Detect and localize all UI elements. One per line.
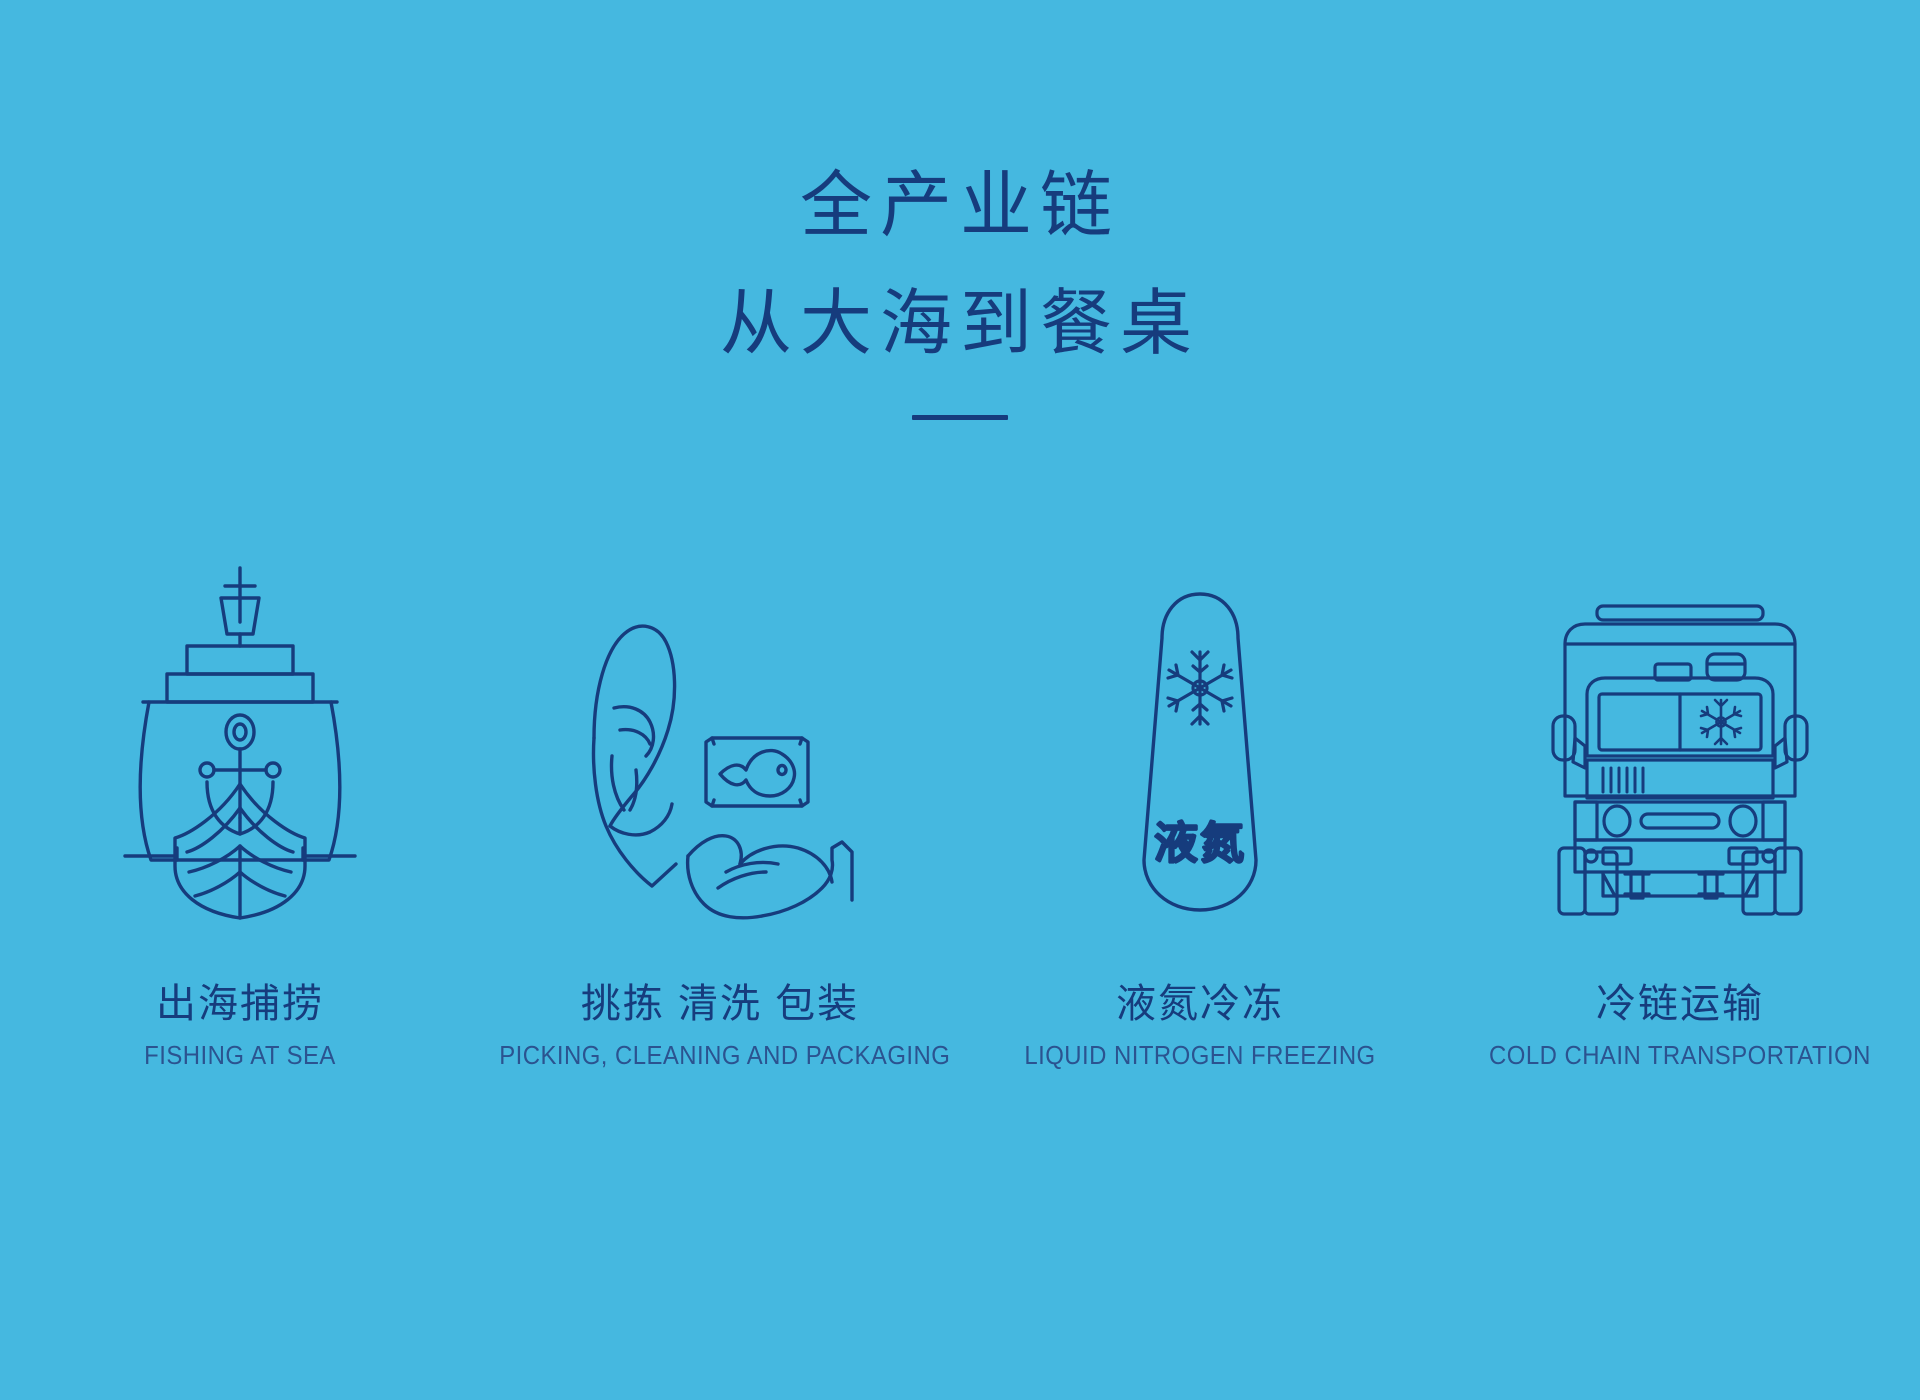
step-label-en: LIQUID NITROGEN FREEZING bbox=[979, 1040, 1421, 1071]
page-title-line-2: 从大海到餐桌 bbox=[0, 278, 1920, 372]
step-cold-chain-transportation[interactable]: 冷链运输 COLD CHAIN TRANSPORTATION bbox=[1440, 520, 1920, 1071]
process-steps-row: 出海捕捞 FISHING AT SEA bbox=[0, 520, 1920, 1160]
refrigerated-truck-icon bbox=[1545, 520, 1815, 920]
step-label-en: PICKING, CLEANING AND PACKAGING bbox=[499, 1040, 941, 1071]
step-labels: 挑拣 清洗 包装 PICKING, CLEANING AND PACKAGING bbox=[480, 982, 960, 1071]
fishing-boat-icon bbox=[115, 520, 365, 920]
step-labels: 出海捕捞 FISHING AT SEA bbox=[0, 982, 480, 1071]
step-label-cn: 冷链运输 bbox=[1440, 982, 1920, 1026]
snowflake-icon bbox=[1701, 700, 1741, 744]
step-label-cn: 出海捕捞 bbox=[0, 982, 480, 1026]
page-header: 全产业链 从大海到餐桌 bbox=[0, 160, 1920, 420]
step-liquid-nitrogen-freezing[interactable]: 液氮 液氮冷冻 LIQUID NITROGEN FREEZING bbox=[960, 520, 1440, 1071]
title-divider bbox=[912, 415, 1008, 420]
snowflake-icon bbox=[1168, 652, 1232, 724]
step-label-cn: 挑拣 清洗 包装 bbox=[480, 982, 960, 1026]
step-fishing-at-sea[interactable]: 出海捕捞 FISHING AT SEA bbox=[0, 520, 480, 1071]
tank-text: 液氮 bbox=[1154, 819, 1246, 868]
step-label-cn: 液氮冷冻 bbox=[960, 982, 1440, 1026]
step-labels: 液氮冷冻 LIQUID NITROGEN FREEZING bbox=[960, 982, 1440, 1071]
hands-with-packaged-fish-icon bbox=[580, 520, 860, 920]
liquid-nitrogen-tank-icon: 液氮 bbox=[1120, 520, 1280, 920]
page-title-line-1: 全产业链 bbox=[0, 160, 1920, 254]
step-label-en: FISHING AT SEA bbox=[19, 1040, 461, 1071]
step-labels: 冷链运输 COLD CHAIN TRANSPORTATION bbox=[1440, 982, 1920, 1071]
step-picking-cleaning-packaging[interactable]: 挑拣 清洗 包装 PICKING, CLEANING AND PACKAGING bbox=[480, 520, 960, 1071]
step-label-en: COLD CHAIN TRANSPORTATION bbox=[1459, 1040, 1901, 1071]
